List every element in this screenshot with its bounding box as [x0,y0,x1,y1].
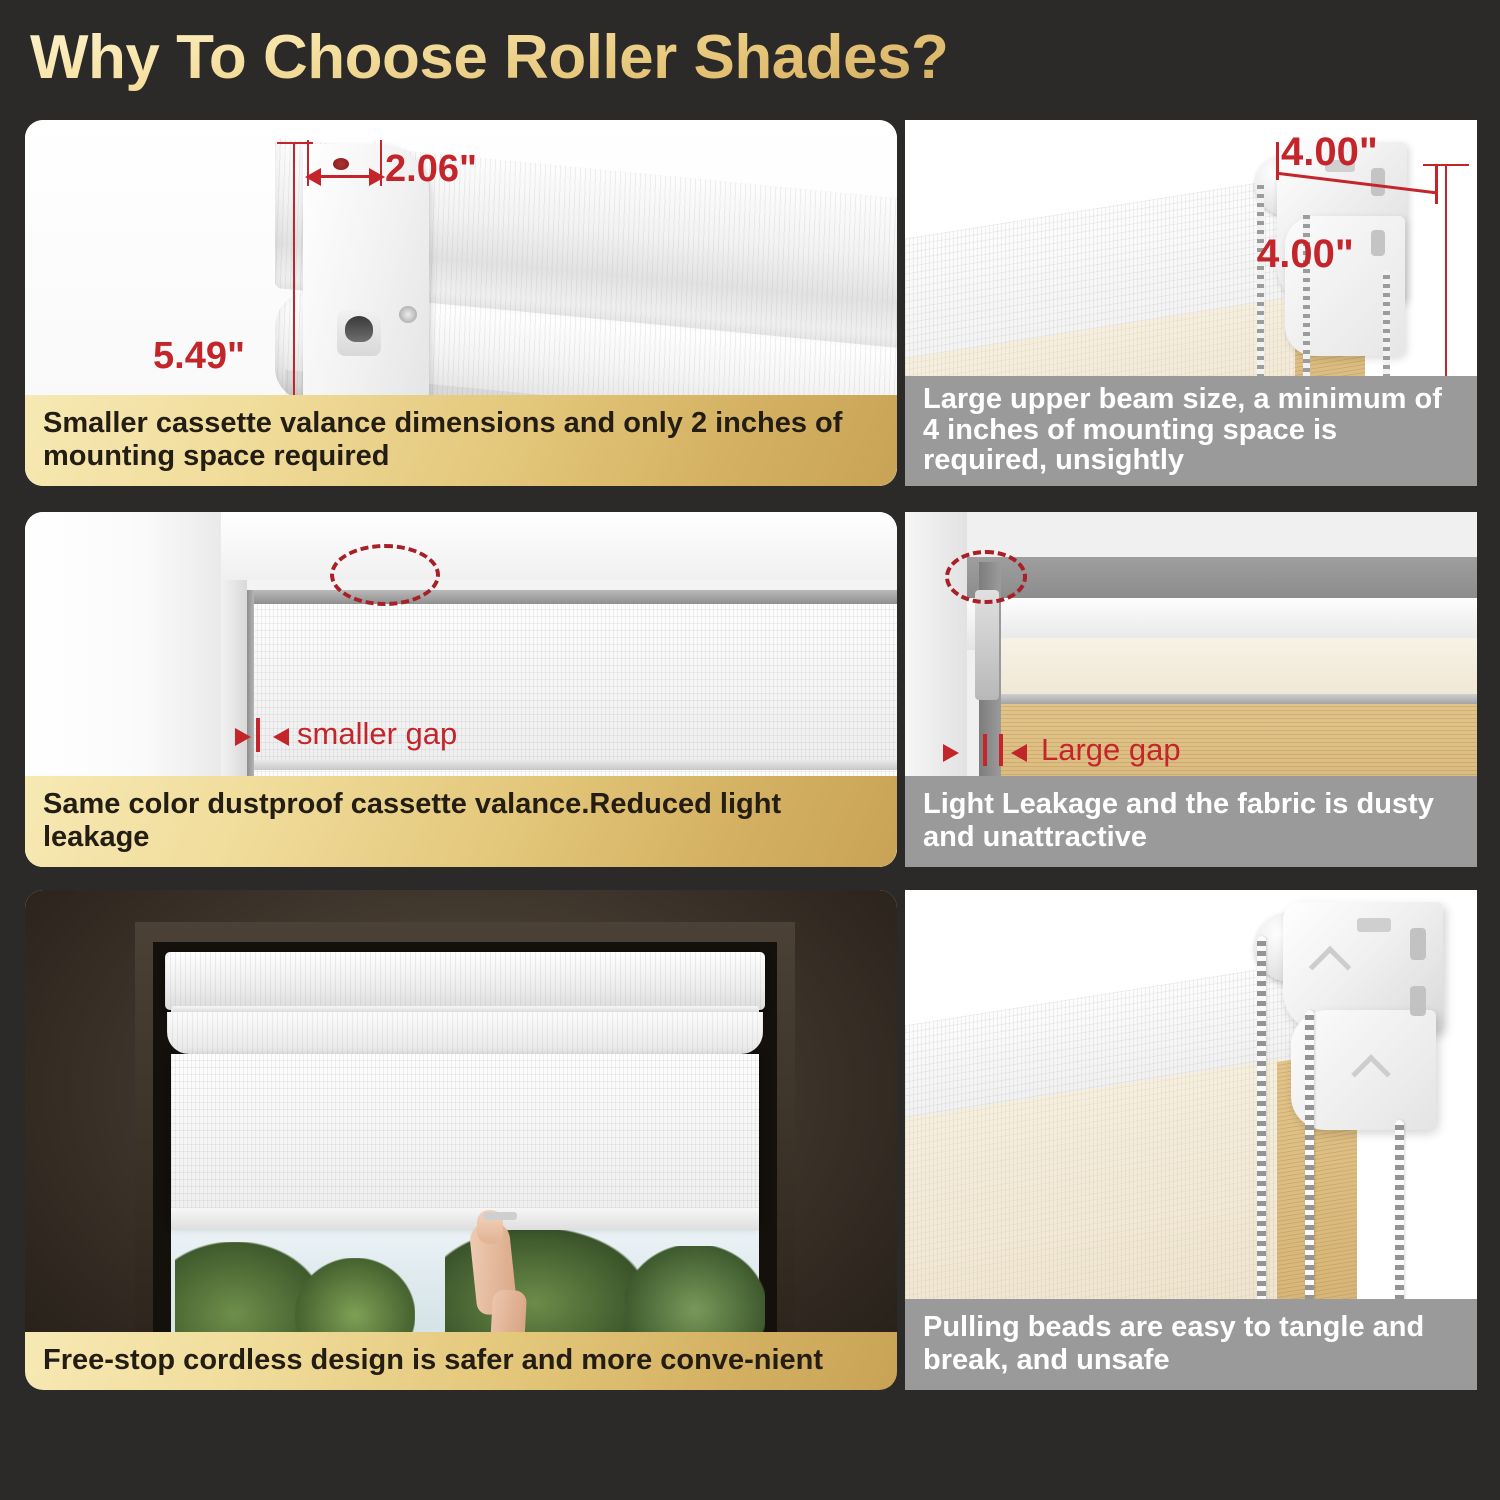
dim-tick-right [1435,164,1438,204]
dim-arrow-right [369,168,385,186]
gap-label-smaller: smaller gap [297,716,457,752]
gap-arrow-left [273,728,289,746]
dimension-label-height: 5.49" [153,335,245,378]
gap-arrow-left [1011,744,1027,762]
gap-tick [256,718,260,752]
dim-tick-top [277,142,313,144]
dimension-label-width: 2.06" [385,148,477,191]
caption-large-gap: Light Leakage and the fabric is dusty an… [905,776,1477,867]
caption-cassette-dimensions: Smaller cassette valance dimensions and … [25,395,897,486]
highlight-ellipse [330,544,440,606]
panel-bead-chain: Pulling beads are easy to tangle and bre… [905,890,1477,1390]
caption-smaller-gap: Same color dustproof cassette valance.Re… [25,776,897,867]
caption-large-beam: Large upper beam size, a minimum of 4 in… [905,376,1477,486]
gap-label-large: Large gap [1041,732,1181,768]
gap-arrow-right [235,728,251,746]
panel-cassette-dimensions: 2.06" 5.49" Smaller cassette valance dim… [25,120,897,486]
gap-tick-a [983,734,987,766]
gap-arrow-right [943,744,959,762]
dim-tick-top [1423,164,1469,166]
panel-large-gap: Large gap Light Leakage and the fabric i… [905,512,1477,867]
caption-bead-chain: Pulling beads are easy to tangle and bre… [905,1299,1477,1390]
panel-large-beam: 4.00" 4.00" Large upper beam size, a min… [905,120,1477,486]
cordless-window-photo [25,890,897,1390]
dim-arrow-left [305,168,321,186]
comparison-grid: 2.06" 5.49" Smaller cassette valance dim… [0,0,1500,1500]
panel-cordless: Free-stop cordless design is safer and m… [25,890,897,1390]
dimension-label-beam-width: 4.00" [1281,130,1378,175]
dimension-label-beam-height: 4.00" [1257,232,1354,277]
gap-tick-b [999,734,1003,766]
highlight-ellipse [945,550,1027,604]
caption-cordless: Free-stop cordless design is safer and m… [25,1332,897,1390]
panel-smaller-gap: smaller gap Same color dustproof cassett… [25,512,897,867]
